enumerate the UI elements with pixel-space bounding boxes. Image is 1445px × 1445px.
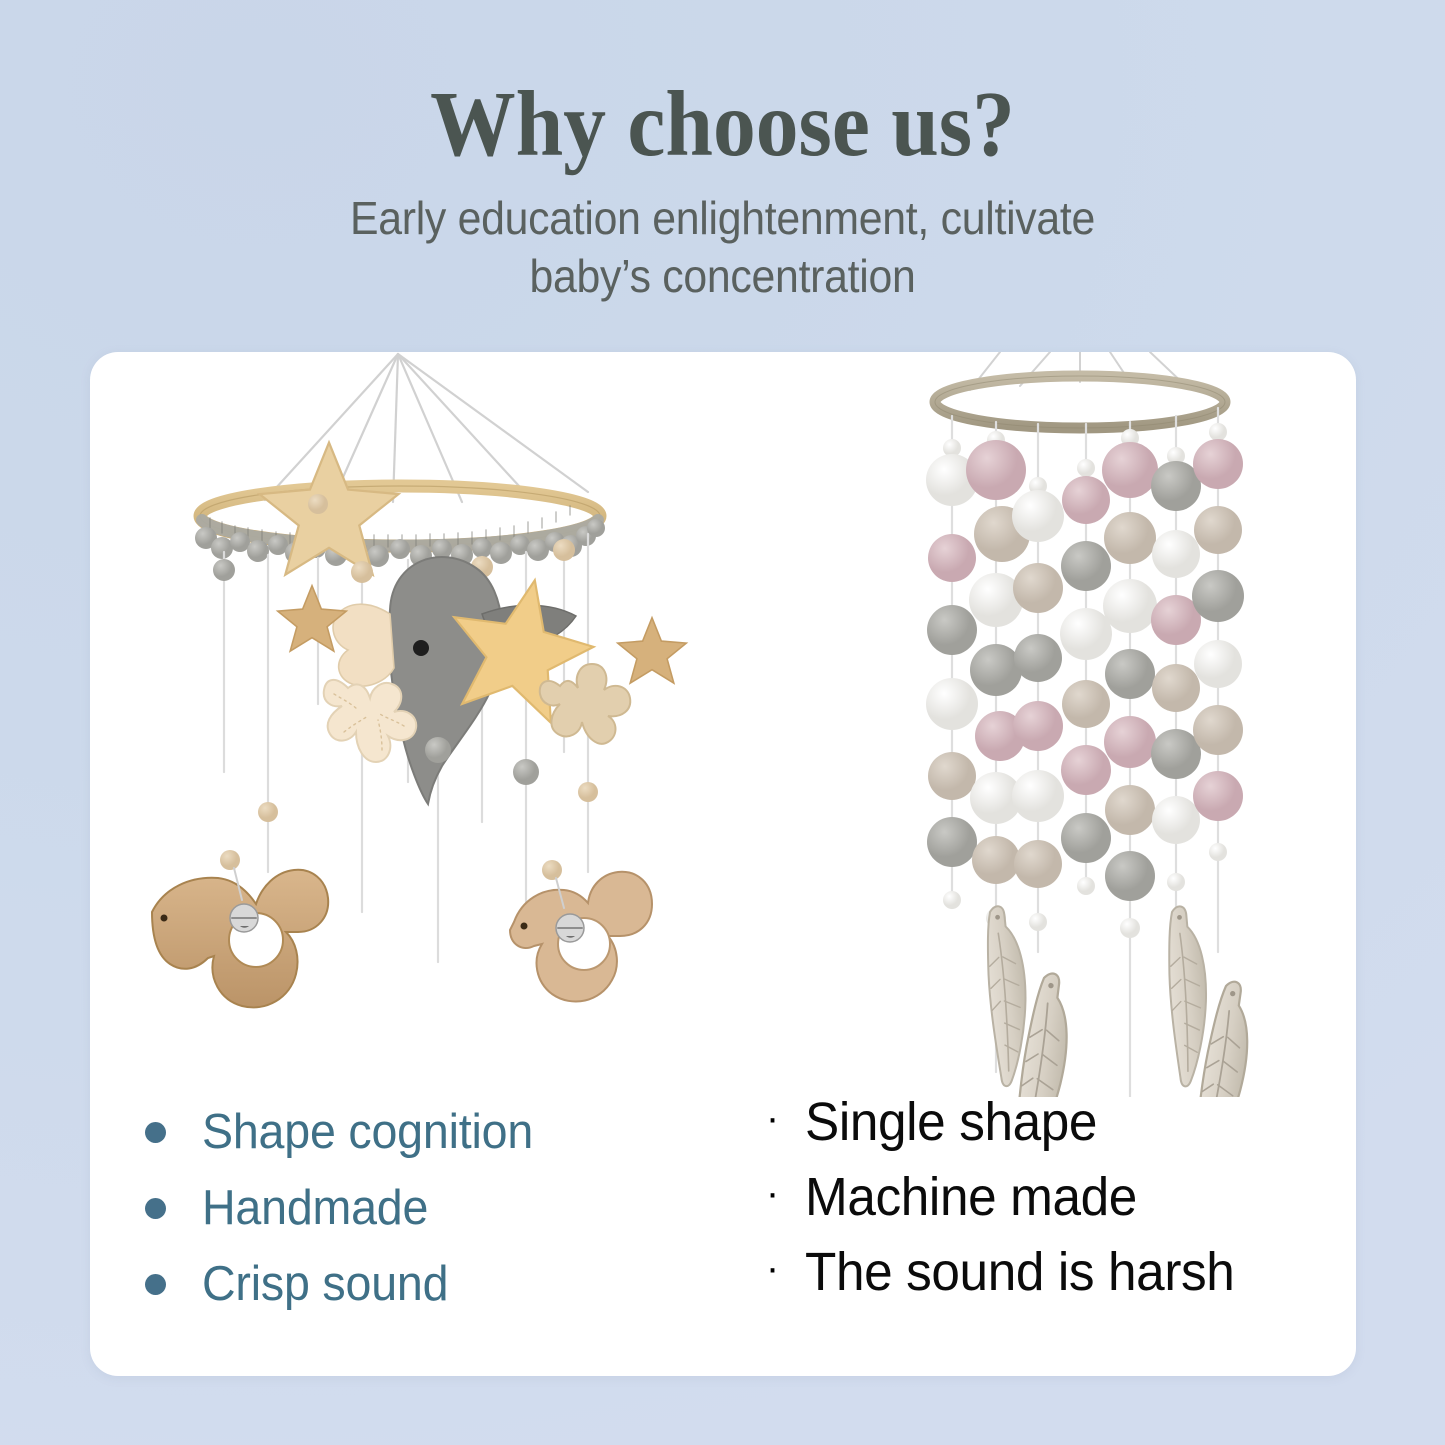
feature-label: Single shape xyxy=(805,1091,1097,1153)
feature-label: Machine made xyxy=(805,1166,1137,1228)
product-illustration xyxy=(90,352,1356,1097)
pompom-fringe xyxy=(195,519,605,567)
bullet-dot-icon xyxy=(145,1274,166,1295)
our-product-feature-list: Shape cognition Handmade Crisp sound xyxy=(145,1094,705,1322)
silver-bell-2 xyxy=(556,914,584,942)
wooden-whale-teether-with-bell xyxy=(510,860,652,1002)
page-subtitle-line-1: Early education enlightenment, cultivate xyxy=(51,189,1395,247)
page-background: Why choose us? Early education enlighten… xyxy=(0,0,1445,1445)
header: Why choose us? Early education enlighten… xyxy=(0,0,1445,306)
feature-label: Crisp sound xyxy=(202,1256,448,1312)
felt-star-tan-left xyxy=(278,586,347,652)
comparison-card: Shape cognition Handmade Crisp sound · S… xyxy=(90,352,1356,1376)
list-item: · The sound is harsh xyxy=(762,1234,1322,1309)
page-subtitle: Early education enlightenment, cultivate… xyxy=(51,189,1395,306)
other-product-feature-list: · Single shape · Machine made · The soun… xyxy=(762,1084,1322,1309)
felt-star-tan-right xyxy=(618,618,687,684)
bullet-middot-icon: · xyxy=(762,1098,783,1138)
left-mobile-ocean xyxy=(152,354,686,1007)
feature-comparison-lists: Shape cognition Handmade Crisp sound · S… xyxy=(90,1094,1356,1376)
list-item: Shape cognition xyxy=(145,1094,705,1170)
page-subtitle-line-2: baby’s concentration xyxy=(51,247,1395,305)
bullet-middot-icon: · xyxy=(762,1248,783,1288)
feature-label: Handmade xyxy=(202,1180,428,1236)
bullet-dot-icon xyxy=(145,1198,166,1219)
product-images xyxy=(90,352,1356,1097)
feature-label: Shape cognition xyxy=(202,1104,533,1160)
page-title: Why choose us? xyxy=(58,78,1387,171)
silver-bell xyxy=(230,904,258,932)
wooden-hoop-2 xyxy=(935,376,1225,428)
list-item: Crisp sound xyxy=(145,1246,705,1322)
list-item: Handmade xyxy=(145,1170,705,1246)
list-item: · Single shape xyxy=(762,1084,1322,1159)
wooden-dolphin-teether-with-bell xyxy=(152,850,328,1007)
feature-label: The sound is harsh xyxy=(805,1241,1234,1303)
bullet-middot-icon: · xyxy=(762,1173,783,1213)
felt-coral-tan xyxy=(540,664,631,744)
right-mobile-felt-balls xyxy=(926,352,1257,1097)
bullet-dot-icon xyxy=(145,1122,166,1143)
list-item: · Machine made xyxy=(762,1159,1322,1234)
